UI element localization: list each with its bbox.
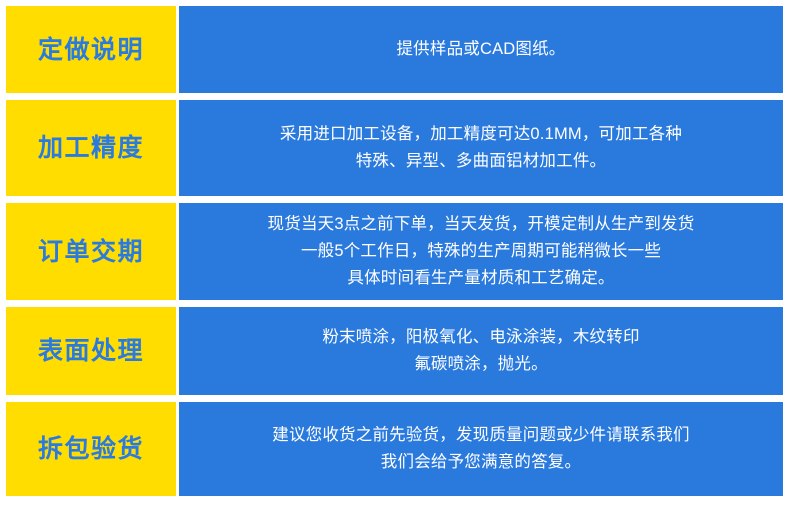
spec-label-cell: 订单交期	[6, 203, 176, 300]
table-row: 表面处理 粉末喷涂，阳极氧化、电泳涂装，木纹转印 氟碳喷涂，抛光。	[6, 307, 783, 395]
spec-label-text: 加工精度	[38, 133, 144, 163]
spec-label-cell: 定做说明	[6, 6, 176, 93]
table-row: 定做说明 提供样品或CAD图纸。	[6, 6, 783, 93]
spec-label-cell: 加工精度	[6, 100, 176, 196]
spec-label-text: 订单交期	[38, 237, 144, 267]
spec-label-text: 表面处理	[38, 336, 144, 366]
table-row: 拆包验货 建议您收货之前先验货，发现质量问题或少件请联系我们 我们会给予您满意的…	[6, 402, 783, 496]
specification-table: 定做说明 提供样品或CAD图纸。 加工精度 采用进口加工设备，加工精度可达0.1…	[0, 0, 790, 506]
spec-label-text: 定做说明	[38, 35, 144, 65]
spec-value-cell: 建议您收货之前先验货，发现质量问题或少件请联系我们 我们会给予您满意的答复。	[179, 402, 783, 496]
spec-value-cell: 采用进口加工设备，加工精度可达0.1MM，可加工各种 特殊、异型、多曲面铝材加工…	[179, 100, 783, 196]
table-row: 订单交期 现货当天3点之前下单，当天发货，开模定制从生产到发货 一般5个工作日，…	[6, 203, 783, 300]
spec-value-cell: 粉末喷涂，阳极氧化、电泳涂装，木纹转印 氟碳喷涂，抛光。	[179, 307, 783, 395]
spec-value-cell: 现货当天3点之前下单，当天发货，开模定制从生产到发货 一般5个工作日，特殊的生产…	[179, 203, 783, 300]
spec-value-text: 粉末喷涂，阳极氧化、电泳涂装，木纹转印 氟碳喷涂，抛光。	[322, 324, 639, 377]
table-row: 加工精度 采用进口加工设备，加工精度可达0.1MM，可加工各种 特殊、异型、多曲…	[6, 100, 783, 196]
spec-label-cell: 拆包验货	[6, 402, 176, 496]
spec-value-cell: 提供样品或CAD图纸。	[179, 6, 783, 93]
spec-label-cell: 表面处理	[6, 307, 176, 395]
spec-value-text: 采用进口加工设备，加工精度可达0.1MM，可加工各种 特殊、异型、多曲面铝材加工…	[280, 121, 682, 174]
spec-value-text: 现货当天3点之前下单，当天发货，开模定制从生产到发货 一般5个工作日，特殊的生产…	[268, 211, 695, 291]
spec-label-text: 拆包验货	[38, 434, 144, 464]
spec-value-text: 建议您收货之前先验货，发现质量问题或少件请联系我们 我们会给予您满意的答复。	[272, 422, 690, 475]
spec-value-text: 提供样品或CAD图纸。	[396, 36, 565, 63]
